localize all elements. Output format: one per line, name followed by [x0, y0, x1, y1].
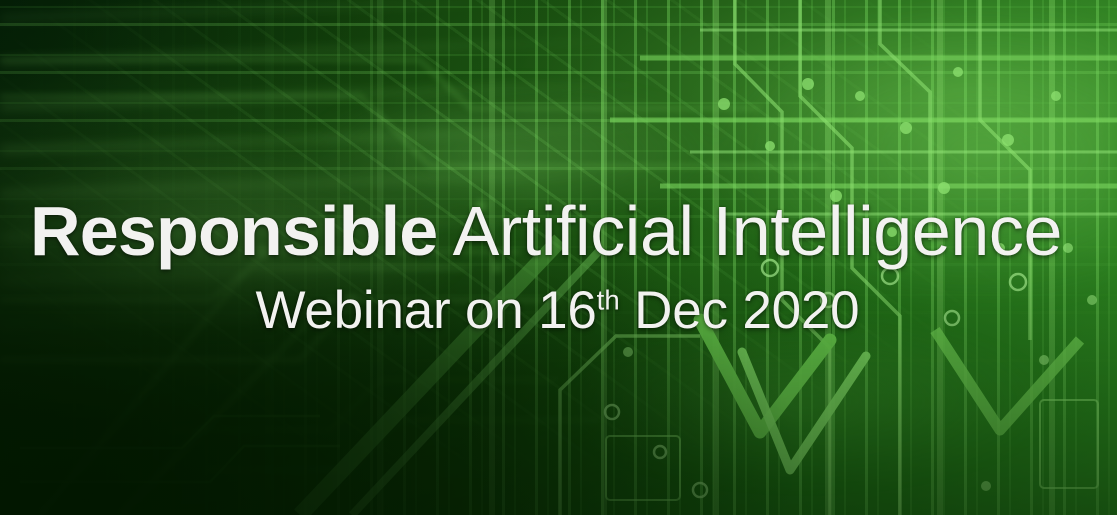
banner-title-space	[437, 192, 452, 270]
banner-title: Responsible Artificial Intelligence	[30, 194, 1062, 268]
banner-title-emphasis: Responsible	[30, 192, 437, 270]
banner-title-rest: Artificial Intelligence	[453, 192, 1062, 270]
banner-subtitle-ordinal-suffix: th	[597, 284, 620, 315]
banner-content: Responsible Artificial Intelligence Webi…	[0, 0, 1117, 515]
banner-subtitle-lead: Webinar on 16	[256, 281, 597, 340]
banner-subtitle-trail: Dec 2020	[620, 281, 860, 340]
banner-subtitle: Webinar on 16th Dec 2020	[0, 282, 1117, 340]
webinar-banner: Responsible Artificial Intelligence Webi…	[0, 0, 1117, 515]
